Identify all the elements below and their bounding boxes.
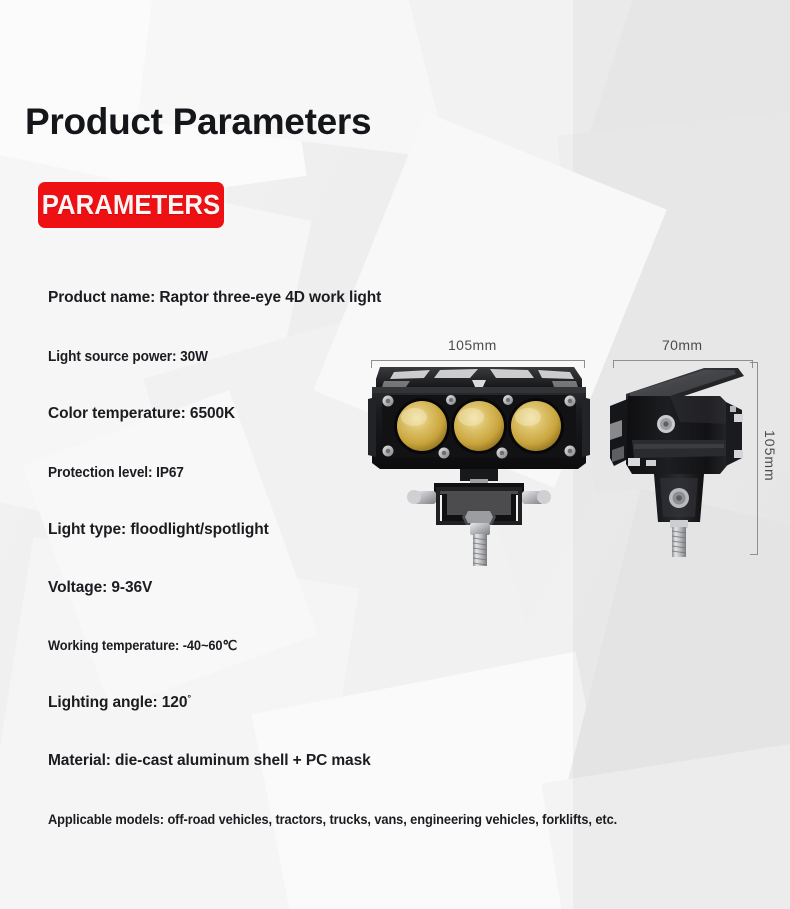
spec-lighting-angle: Lighting angle: 120° — [48, 694, 191, 712]
side-width-dimension-line — [613, 360, 753, 361]
side-view-width-label: 70mm — [662, 337, 703, 353]
page-title: Product Parameters — [25, 101, 371, 143]
front-width-dimension-line — [371, 360, 585, 361]
spec-working-temperature: Working temperature: -40~60℃ — [48, 638, 237, 654]
spec-color-temperature: Color temperature: 6500K — [48, 405, 235, 423]
spec-light-source-power: Light source power: 30W — [48, 349, 208, 365]
spec-voltage: Voltage: 9-36V — [48, 579, 152, 597]
spec-lighting-angle-value: Lighting angle: 120 — [48, 694, 187, 711]
front-view-width-label: 105mm — [448, 337, 497, 353]
front-view-image — [366, 363, 592, 568]
spec-light-type: Light type: floodlight/spotlight — [48, 521, 269, 539]
degree-icon: ° — [187, 693, 191, 704]
side-view-image — [608, 362, 758, 558]
spec-applicable-models: Applicable models: off-road vehicles, tr… — [48, 812, 617, 827]
parameters-badge-label: PARAMETERS — [45, 182, 216, 228]
spec-protection-level: Protection level: IP67 — [48, 465, 184, 481]
side-view-height-label: 105mm — [762, 430, 778, 482]
spec-product-name: Product name: Raptor three-eye 4D work l… — [48, 289, 381, 307]
spec-material: Material: die-cast aluminum shell + PC m… — [48, 752, 371, 770]
parameters-badge: PARAMETERS — [38, 182, 224, 228]
product-parameters-page: Product Parameters PARAMETERS Product na… — [0, 0, 790, 909]
